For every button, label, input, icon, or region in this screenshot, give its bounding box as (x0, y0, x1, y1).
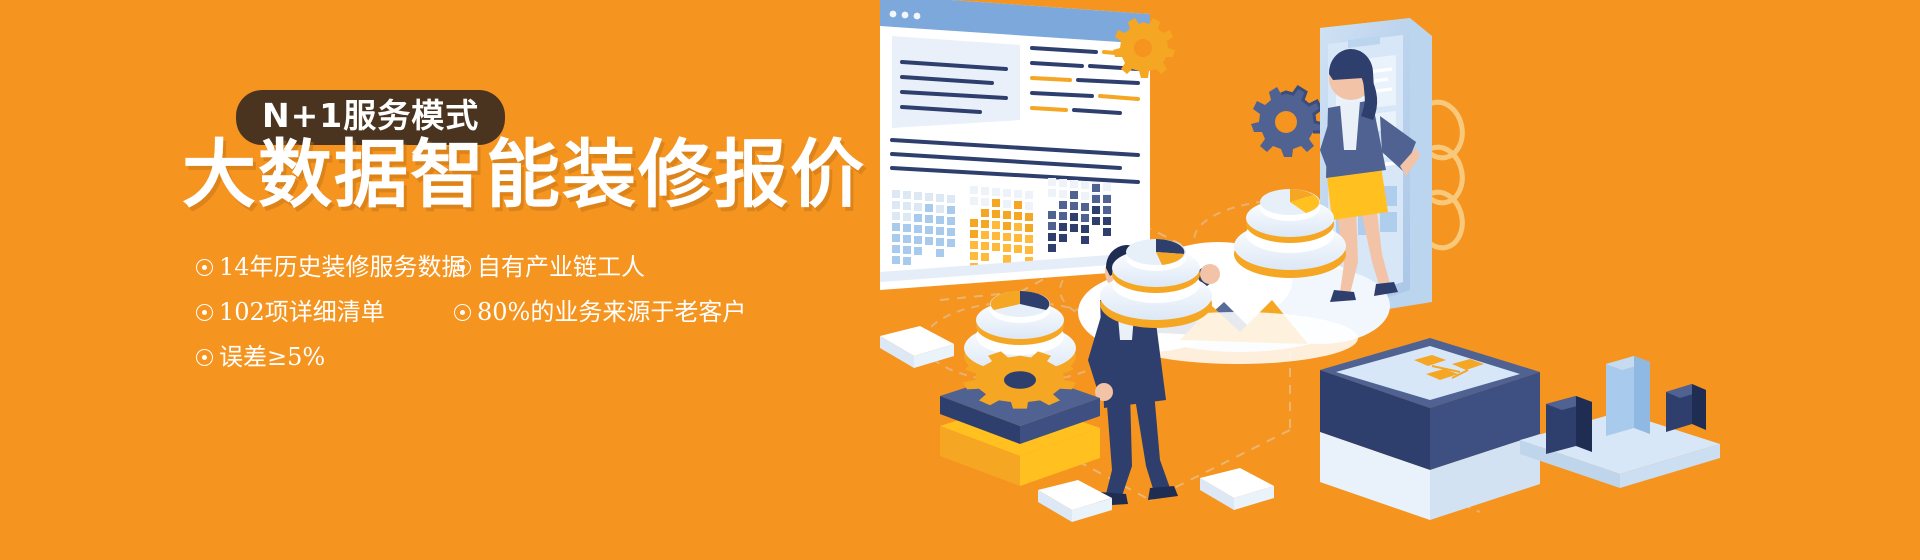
list-item: 102项详细清单 80%的业务来源于老客户 (196, 297, 756, 327)
feature-label: 14年历史装修服务数据 (219, 252, 466, 282)
feature-item: 误差≥5% (196, 342, 454, 372)
server-box (1320, 338, 1540, 560)
circled-dot-icon (196, 349, 213, 366)
text-block: N+1服务模式 大数据智能装修报价 14年历史装修服务数据 自有产业链工人 10… (0, 0, 860, 560)
promo-banner: N+1服务模式 大数据智能装修报价 14年历史装修服务数据 自有产业链工人 10… (0, 0, 1920, 560)
window-dot-icon (890, 11, 897, 18)
window-dot-icon (914, 13, 921, 20)
feature-label: 102项详细清单 (219, 297, 385, 327)
feature-list: 14年历史装修服务数据 自有产业链工人 102项详细清单 80%的业务来源于老客… (196, 252, 756, 387)
circled-dot-icon (454, 259, 471, 276)
feature-label: 误差≥5% (219, 342, 325, 372)
feature-item: 102项详细清单 (196, 297, 454, 327)
database-stack (940, 351, 1100, 486)
feature-item: 自有产业链工人 (454, 252, 754, 282)
browser-window-with-charts (880, 0, 1150, 290)
circled-dot-icon (454, 304, 471, 321)
list-item: 14年历史装修服务数据 自有产业链工人 (196, 252, 756, 282)
feature-label: 自有产业链工人 (477, 252, 645, 282)
tile-block (1038, 480, 1112, 522)
list-item: 误差≥5% (196, 342, 756, 372)
feature-item: 14年历史装修服务数据 (196, 252, 454, 282)
circled-dot-icon (196, 304, 213, 321)
tile-block (880, 326, 954, 368)
page-title: 大数据智能装修报价 (182, 137, 866, 215)
feature-label: 80%的业务来源于老客户 (477, 297, 746, 327)
tile-block (1200, 468, 1274, 510)
circled-dot-icon (196, 259, 213, 276)
isometric-illustration (820, 0, 1920, 560)
window-dot-icon (902, 12, 909, 19)
gear-navy-icon (1251, 87, 1323, 157)
feature-item: 80%的业务来源于老客户 (454, 297, 754, 327)
bar-chart-3d (1520, 356, 1720, 488)
